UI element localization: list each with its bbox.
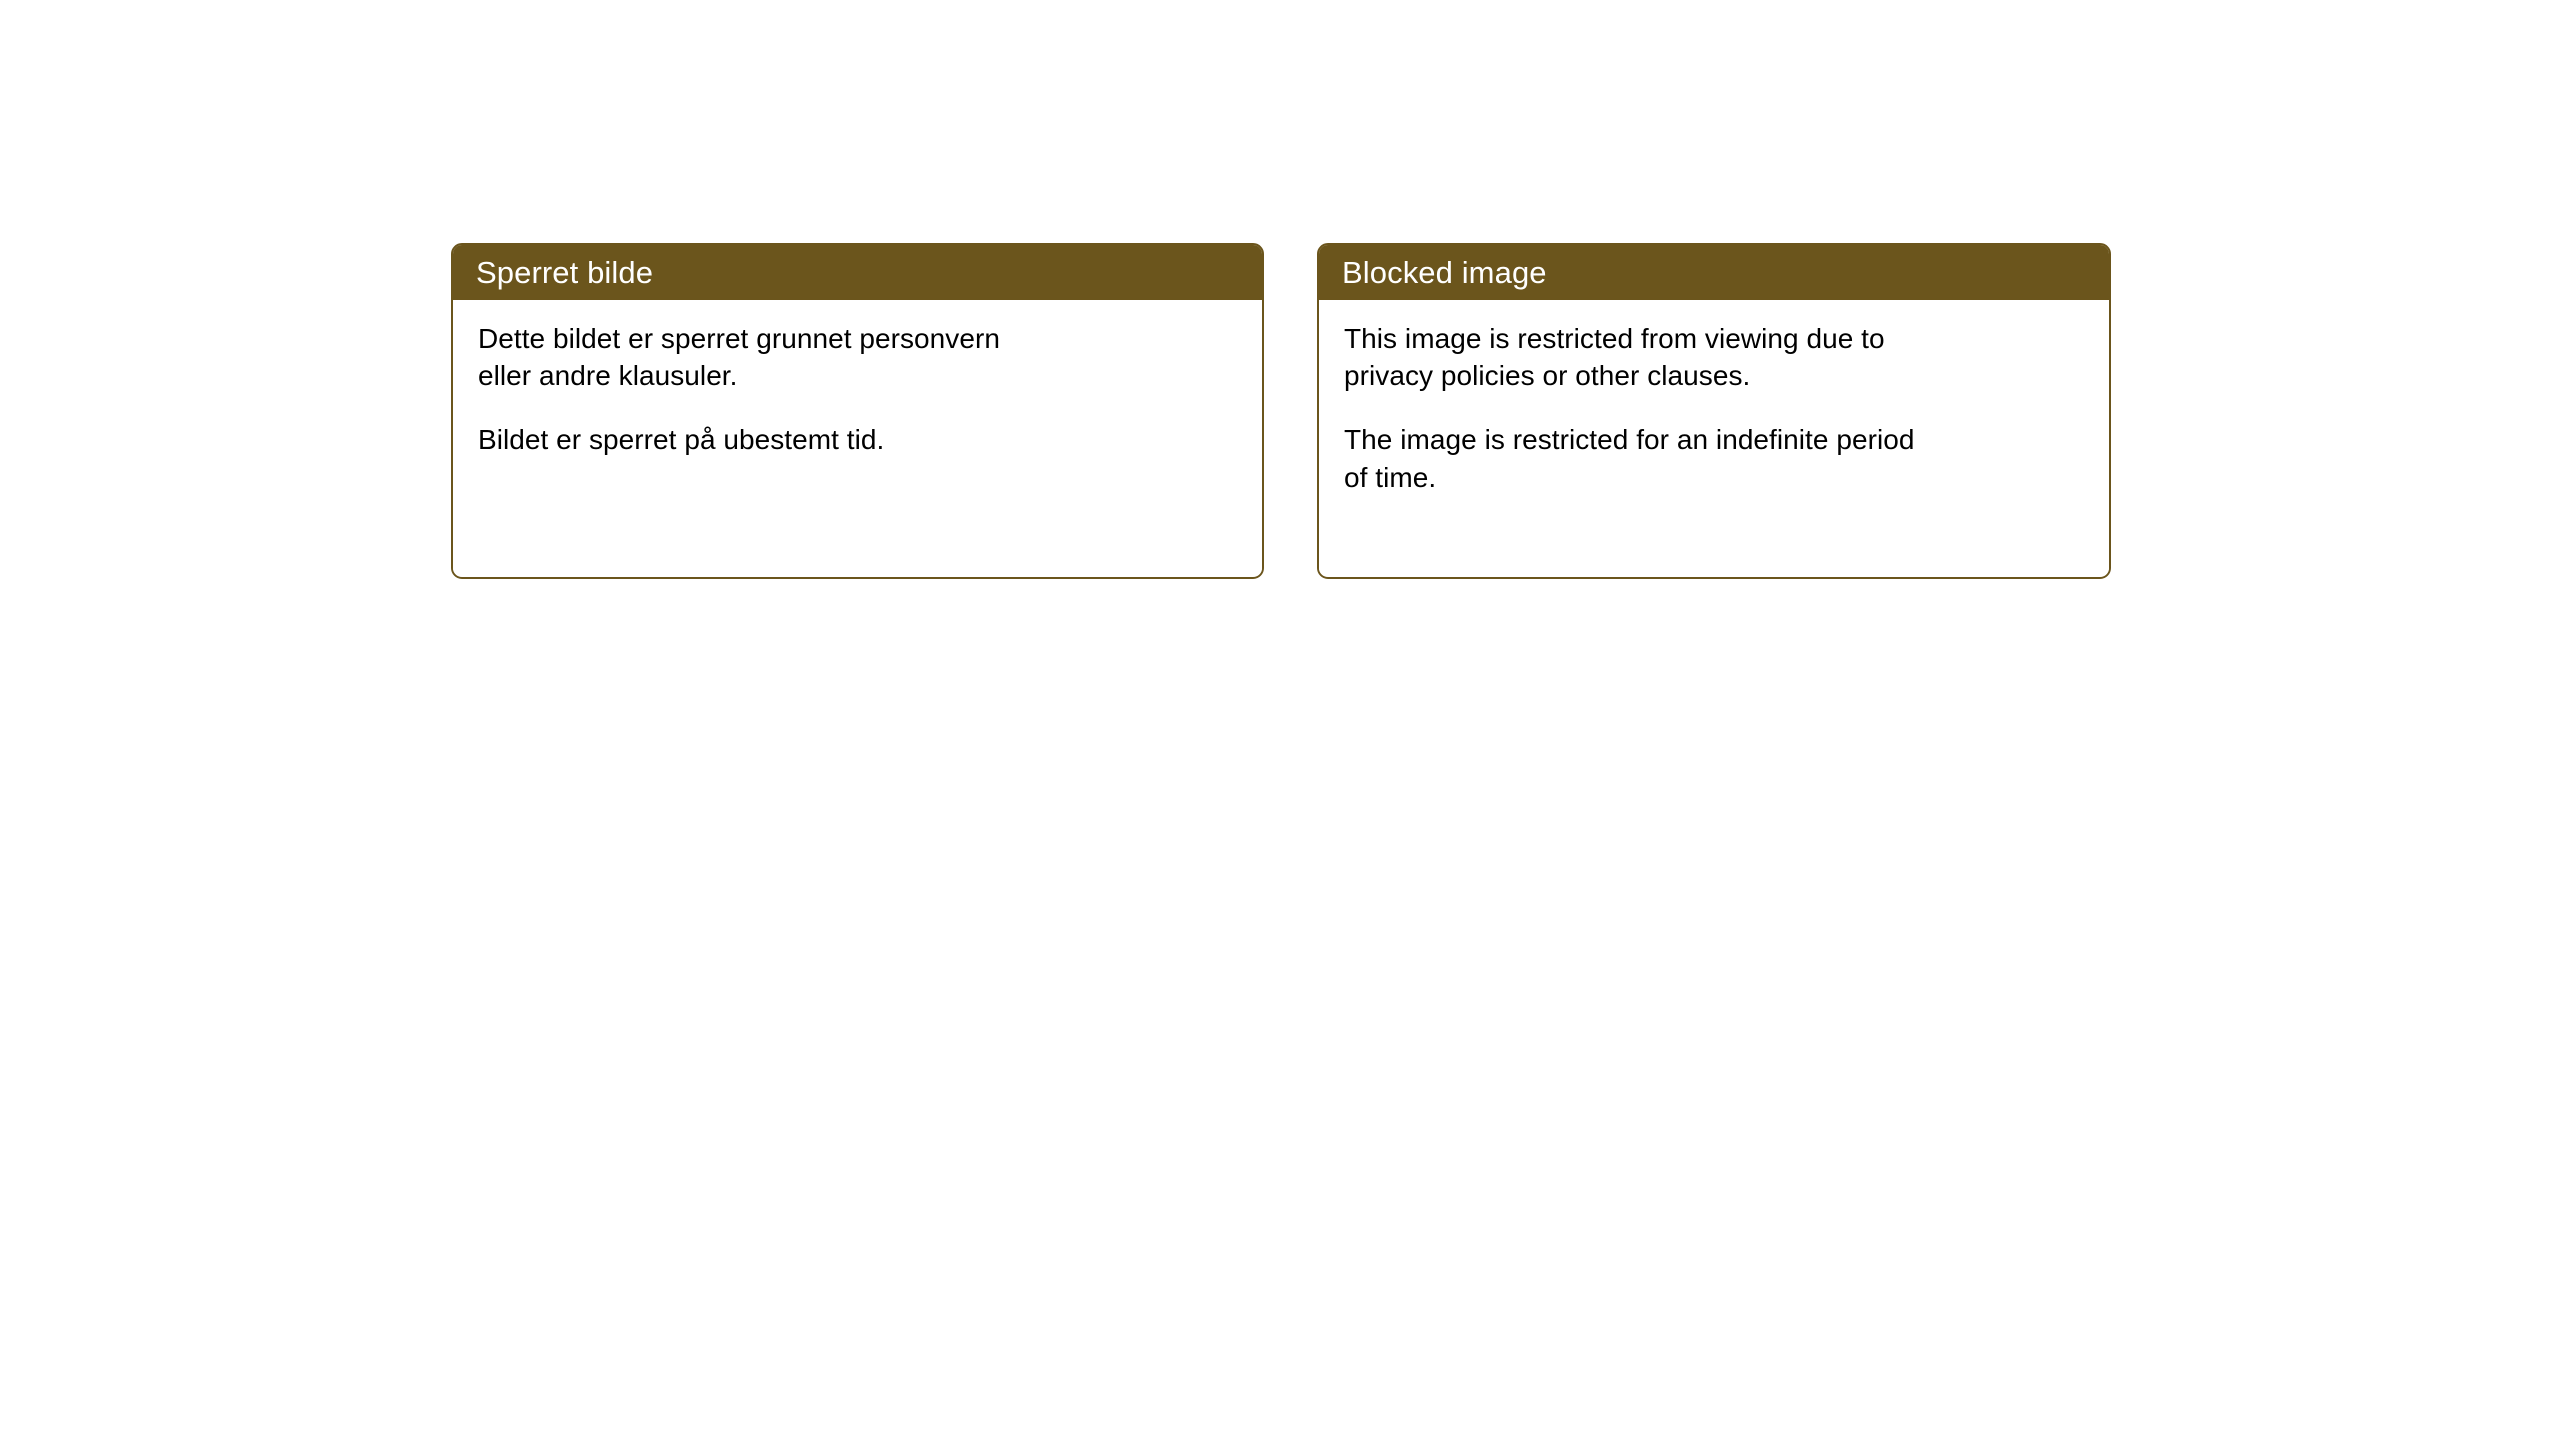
card-paragraph-primary-norwegian: Dette bildet er sperret grunnet personve… bbox=[478, 320, 1242, 394]
card-paragraph-primary-english: This image is restricted from viewing du… bbox=[1344, 320, 2089, 394]
card-header-english: Blocked image bbox=[1318, 244, 2110, 300]
blocked-image-notice-card-norwegian: Sperret bilde Dette bildet er sperret gr… bbox=[451, 243, 1264, 579]
card-body-norwegian: Dette bildet er sperret grunnet personve… bbox=[453, 300, 1262, 576]
card-header-norwegian: Sperret bilde bbox=[452, 244, 1263, 300]
card-paragraph-secondary-english: The image is restricted for an indefinit… bbox=[1344, 421, 2089, 495]
card-title-english: Blocked image bbox=[1342, 257, 1547, 288]
page-canvas: Sperret bilde Dette bildet er sperret gr… bbox=[0, 0, 2560, 1440]
card-paragraph-secondary-norwegian: Bildet er sperret på ubestemt tid. bbox=[478, 421, 1242, 458]
card-body-english: This image is restricted from viewing du… bbox=[1319, 300, 2109, 576]
card-title-norwegian: Sperret bilde bbox=[476, 257, 653, 288]
blocked-image-notice-card-english: Blocked image This image is restricted f… bbox=[1317, 243, 2111, 579]
